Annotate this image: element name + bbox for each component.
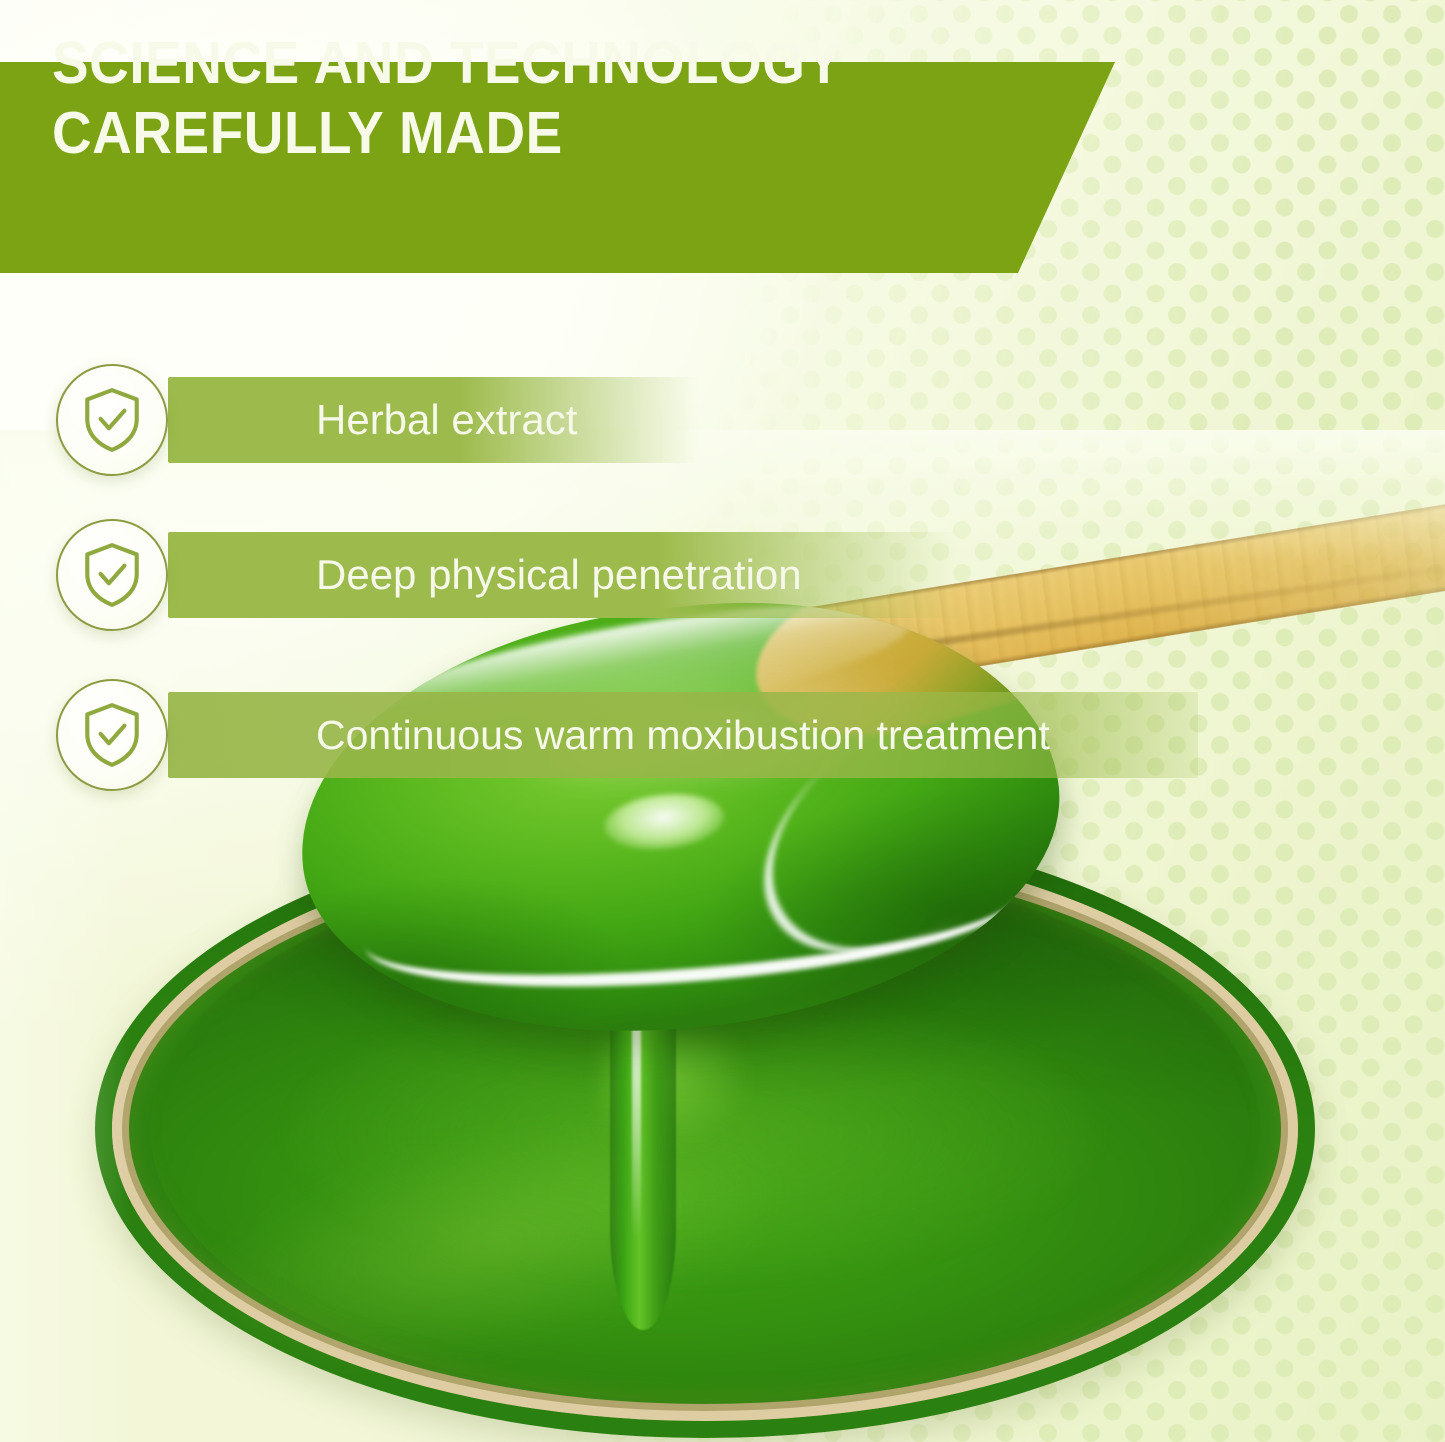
feature-row-moxibustion-treatment: Continuous warm moxibustion treatment	[56, 679, 1050, 791]
feature-label: Continuous warm moxibustion treatment	[280, 715, 1050, 756]
feature-badge	[56, 679, 168, 791]
feature-row-deep-penetration: Deep physical penetration	[56, 519, 802, 631]
shield-check-icon	[79, 701, 145, 769]
spoon-bowl-with-paste	[280, 569, 1080, 1066]
feature-badge	[56, 519, 168, 631]
shield-check-icon	[79, 541, 145, 609]
feature-row-herbal-extract: Herbal extract	[56, 364, 577, 476]
page-title: SCIENCE AND TECHNOLOGY CAREFULLY MADE	[52, 28, 982, 168]
feature-label: Herbal extract	[280, 399, 577, 441]
feature-label: Deep physical penetration	[280, 554, 802, 596]
paste-drip-highlight	[632, 1008, 641, 1238]
paste-drip	[610, 990, 676, 1330]
feature-badge	[56, 364, 168, 476]
shield-check-icon	[79, 386, 145, 454]
product-feature-poster: SCIENCE AND TECHNOLOGY CAREFULLY MADE He…	[0, 0, 1445, 1442]
